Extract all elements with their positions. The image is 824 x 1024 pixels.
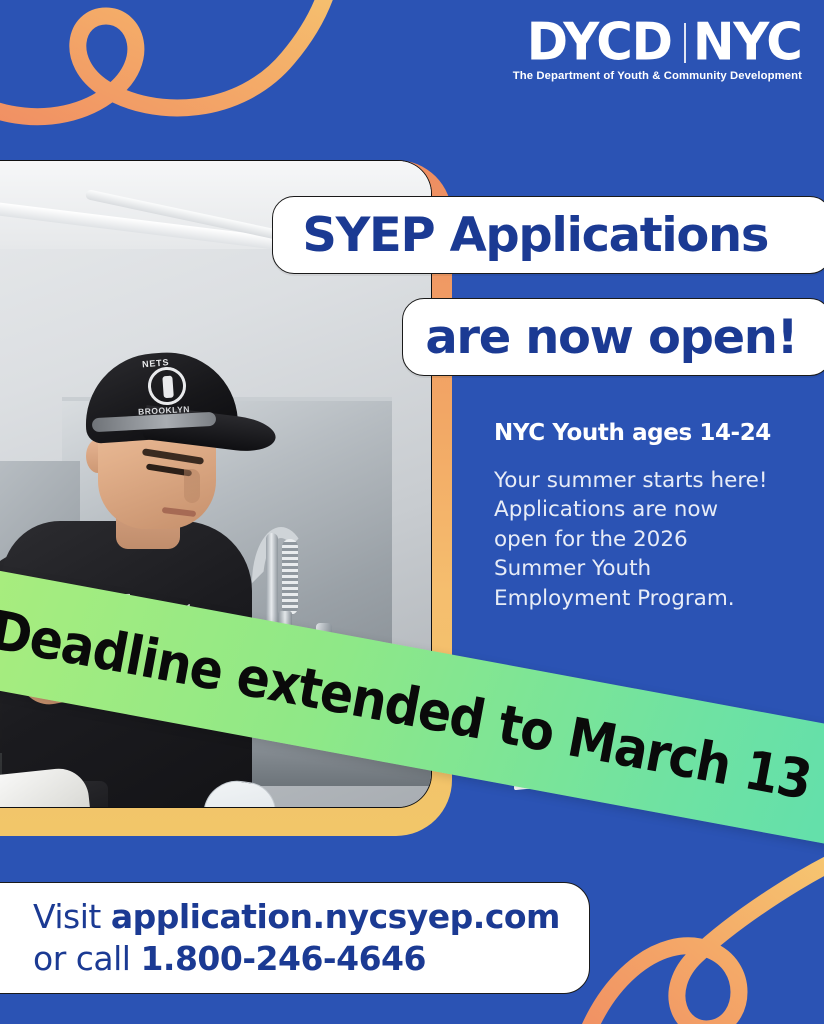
visit-label: Visit <box>33 897 111 936</box>
description-line: Summer Youth <box>494 554 800 583</box>
headline-pill-primary: SYEP Applications <box>272 196 824 274</box>
eligibility-heading: NYC Youth ages 14-24 <box>494 420 800 446</box>
looping-curve-icon <box>0 0 420 154</box>
logo-nyc: NYC <box>693 20 802 65</box>
logo-divider <box>684 23 686 63</box>
description-line: Your summer starts here! <box>494 466 800 495</box>
website-url[interactable]: application.nycsyep.com <box>111 897 560 936</box>
website-line: Visit application.nycsyep.com <box>33 896 589 938</box>
phone-number[interactable]: 1.800-246-4646 <box>140 939 426 978</box>
description-line: Employment Program. <box>494 584 800 613</box>
person-nose <box>184 469 200 503</box>
description-line: open for the 2026 <box>494 525 800 554</box>
headline-line-2: are now open! <box>425 310 797 365</box>
description-line: Applications are now <box>494 495 800 524</box>
contact-info-pill: Visit application.nycsyep.com or call 1.… <box>0 882 590 994</box>
faucet-spring-hose <box>282 539 298 615</box>
headline-line-1: SYEP Applications <box>302 208 768 263</box>
dycd-nyc-logo: DYCD NYC The Department of Youth & Commu… <box>513 22 802 82</box>
logo-dycd: DYCD <box>527 20 672 65</box>
logo-wordmarks: DYCD NYC <box>513 22 802 63</box>
program-description: Your summer starts here! Applications ar… <box>494 466 800 613</box>
phone-line: or call 1.800-246-4646 <box>33 938 589 980</box>
or-call-label: or call <box>33 939 140 978</box>
poster-canvas: DYCD NYC The Department of Youth & Commu… <box>0 0 824 1024</box>
looping-curve-icon <box>564 834 824 1024</box>
headline-pill-secondary: are now open! <box>402 298 824 376</box>
eligibility-block: NYC Youth ages 14-24 Your summer starts … <box>494 420 800 613</box>
